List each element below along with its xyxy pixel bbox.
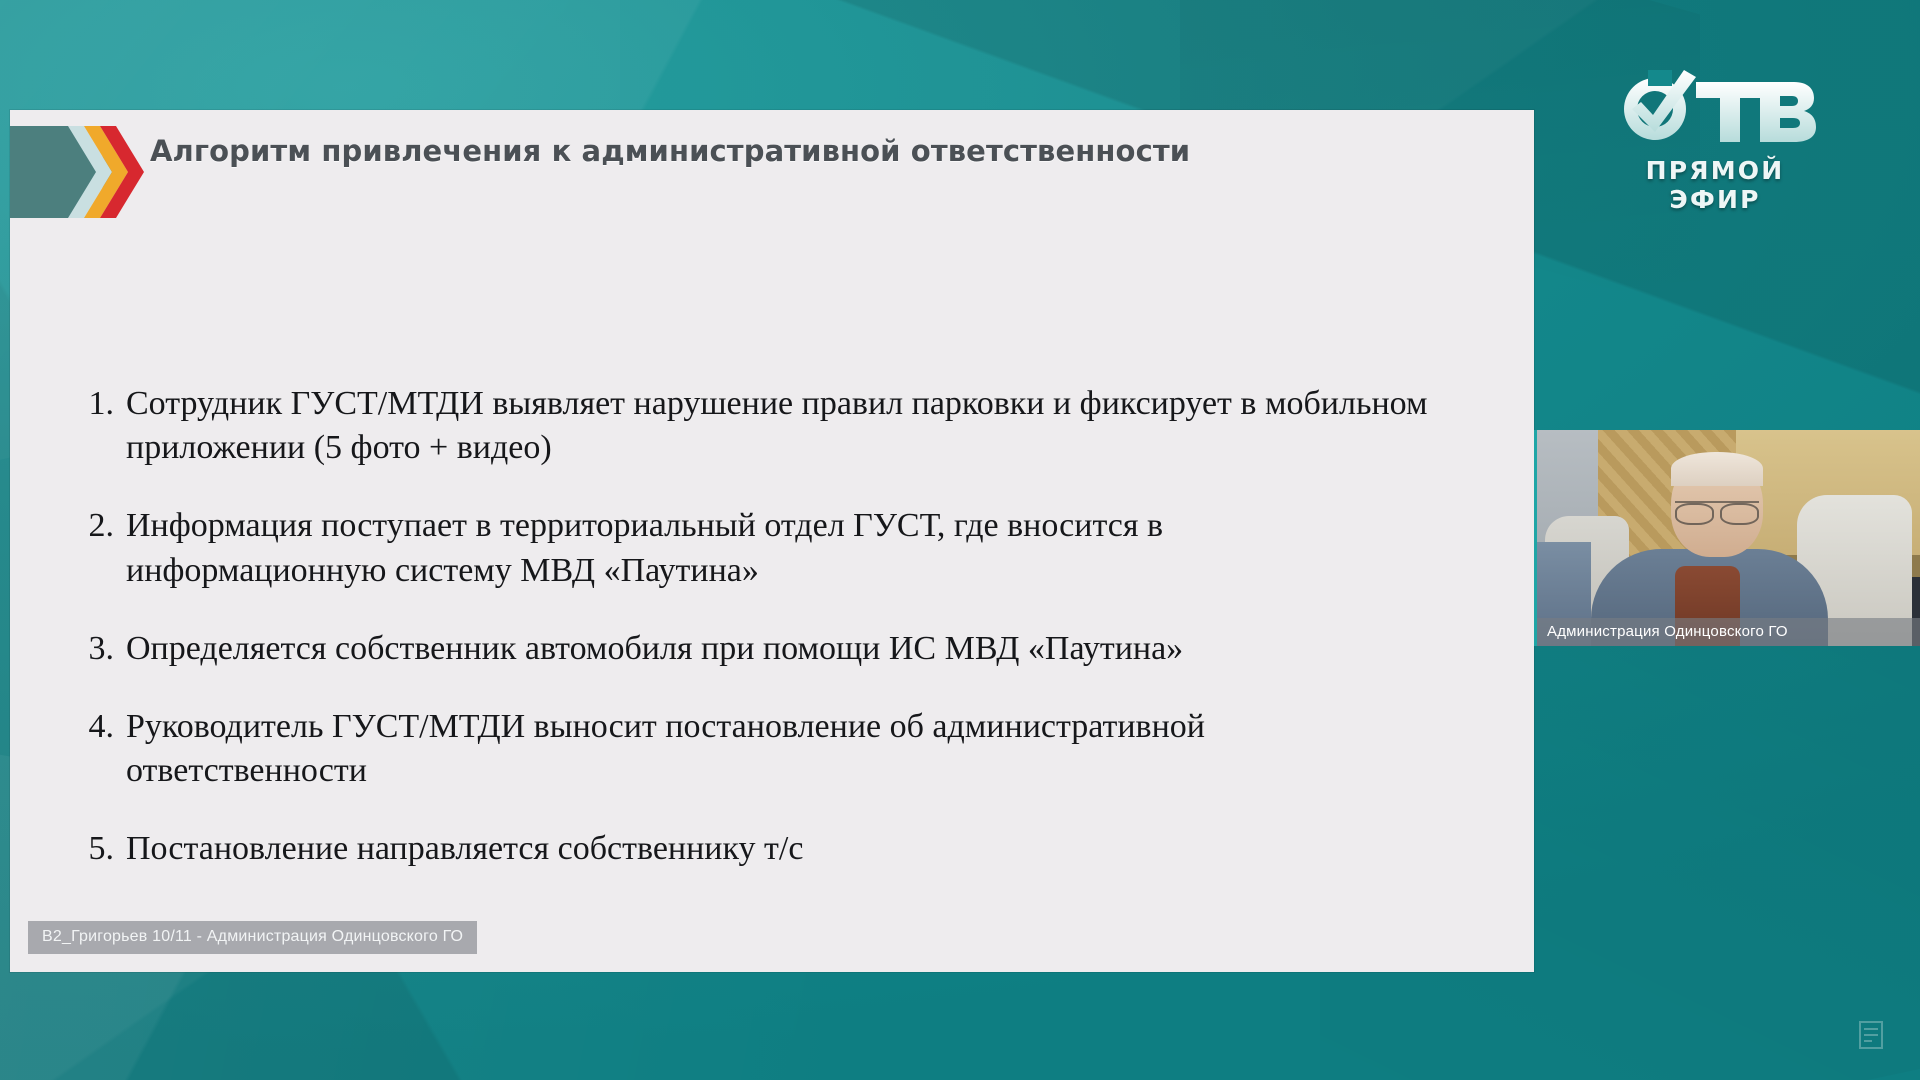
list-item-number: 5. (68, 827, 114, 871)
channel-watermark-icon (1858, 1020, 1884, 1050)
live-badge: ПРЯМОЙ ЭФИР (1600, 156, 1830, 214)
pip-video-frame (1537, 430, 1920, 646)
chevron-decoration-icon (10, 126, 150, 218)
presentation-slide: Алгоритм привлечения к административной … (10, 110, 1534, 972)
slide-header: Алгоритм привлечения к административной … (10, 110, 1534, 220)
steps-list: 1. Сотрудник ГУСТ/МТДИ выявляет нарушени… (68, 382, 1428, 906)
list-item: 4. Руководитель ГУСТ/МТДИ выносит постан… (68, 705, 1428, 793)
glasses-icon (1675, 501, 1759, 520)
list-item: 2. Информация поступает в территориальны… (68, 504, 1428, 592)
broadcast-stage: Алгоритм привлечения к административной … (0, 0, 1920, 1080)
channel-logo: ПРЯМОЙ ЭФИР (1600, 62, 1830, 214)
list-item-number: 1. (68, 382, 114, 426)
list-item: 1. Сотрудник ГУСТ/МТДИ выявляет нарушени… (68, 382, 1428, 470)
list-item-text: Руководитель ГУСТ/МТДИ выносит постановл… (126, 708, 1205, 789)
list-item: 5. Постановление направляется собственни… (68, 827, 1428, 871)
otv-logo-icon (1608, 62, 1822, 154)
list-item-text: Информация поступает в территориальный о… (126, 507, 1163, 588)
list-item-number: 4. (68, 705, 114, 749)
list-item: 3. Определяется собственник автомобиля п… (68, 627, 1428, 671)
slide-title: Алгоритм привлечения к административной … (150, 134, 1190, 168)
pip-video[interactable]: Администрация Одинцовского ГО (1534, 430, 1920, 646)
list-item-text: Определяется собственник автомобиля при … (126, 630, 1183, 667)
list-item-number: 2. (68, 504, 114, 548)
list-item-text: Сотрудник ГУСТ/МТДИ выявляет нарушение п… (126, 385, 1428, 466)
list-item-text: Постановление направляется собственнику … (126, 830, 803, 867)
list-item-number: 3. (68, 627, 114, 671)
lower-third-caption: B2_Григорьев 10/11 - Администрация Одинц… (28, 921, 477, 954)
pip-caption: Администрация Одинцовского ГО (1537, 618, 1920, 646)
